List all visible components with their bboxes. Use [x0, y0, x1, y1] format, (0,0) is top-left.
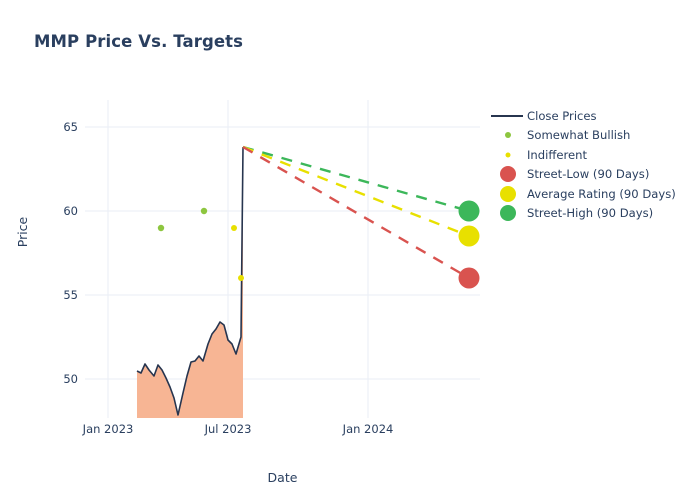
dot-swatch-icon: [489, 204, 527, 224]
legend-item-somewhat-bullish[interactable]: Somewhat Bullish: [489, 126, 694, 146]
y-tick-label: 65: [38, 120, 78, 134]
plot-svg: [85, 100, 480, 420]
legend-item-street-low[interactable]: Street-Low (90 Days): [489, 165, 694, 185]
legend-label: Street-High (90 Days): [527, 206, 653, 220]
street-low-projection: [243, 147, 469, 278]
street-high-projection: [243, 147, 469, 211]
x-axis-ticks: Jan 2023 Jul 2023 Jan 2024: [0, 422, 700, 442]
legend-item-close-prices[interactable]: Close Prices: [489, 106, 694, 126]
somewhat-bullish-marker[interactable]: [201, 208, 207, 214]
y-tick-label: 60: [38, 204, 78, 218]
x-tick-label: Jan 2023: [83, 422, 134, 436]
average-rating-marker[interactable]: [459, 226, 480, 247]
legend-label: Somewhat Bullish: [527, 128, 630, 142]
grid-horizontal: [85, 127, 480, 379]
legend-item-average-rating[interactable]: Average Rating (90 Days): [489, 184, 694, 204]
y-tick-label: 55: [38, 288, 78, 302]
legend-item-street-high[interactable]: Street-High (90 Days): [489, 204, 694, 224]
indifferent-marker[interactable]: [231, 225, 237, 231]
line-swatch-icon: [489, 106, 527, 126]
street-high-marker[interactable]: [459, 201, 480, 222]
dot-swatch-icon: [489, 126, 527, 146]
dot-swatch-icon: [489, 184, 527, 204]
legend-label: Average Rating (90 Days): [527, 187, 676, 201]
legend-label: Close Prices: [527, 109, 597, 123]
dot-swatch-icon: [489, 145, 527, 165]
x-tick-label: Jan 2024: [343, 422, 394, 436]
y-axis-title: Price: [15, 217, 30, 248]
legend-label: Indifferent: [527, 148, 587, 162]
average-rating-projection: [243, 147, 469, 236]
y-tick-label: 50: [38, 372, 78, 386]
chart-legend: Close Prices Somewhat Bullish Indifferen…: [489, 106, 694, 223]
plot-area: [85, 100, 480, 418]
somewhat-bullish-marker[interactable]: [158, 225, 164, 231]
close-prices-area: [137, 147, 243, 418]
legend-label: Street-Low (90 Days): [527, 167, 649, 181]
x-tick-label: Jul 2023: [205, 422, 252, 436]
x-axis-title: Date: [0, 470, 565, 485]
street-low-marker[interactable]: [459, 268, 480, 289]
dot-swatch-icon: [489, 165, 527, 185]
legend-item-indifferent[interactable]: Indifferent: [489, 145, 694, 165]
indifferent-marker[interactable]: [238, 275, 244, 281]
chart-container: MMP Price Vs. Targets 65 60 55 50 Price: [0, 0, 700, 500]
